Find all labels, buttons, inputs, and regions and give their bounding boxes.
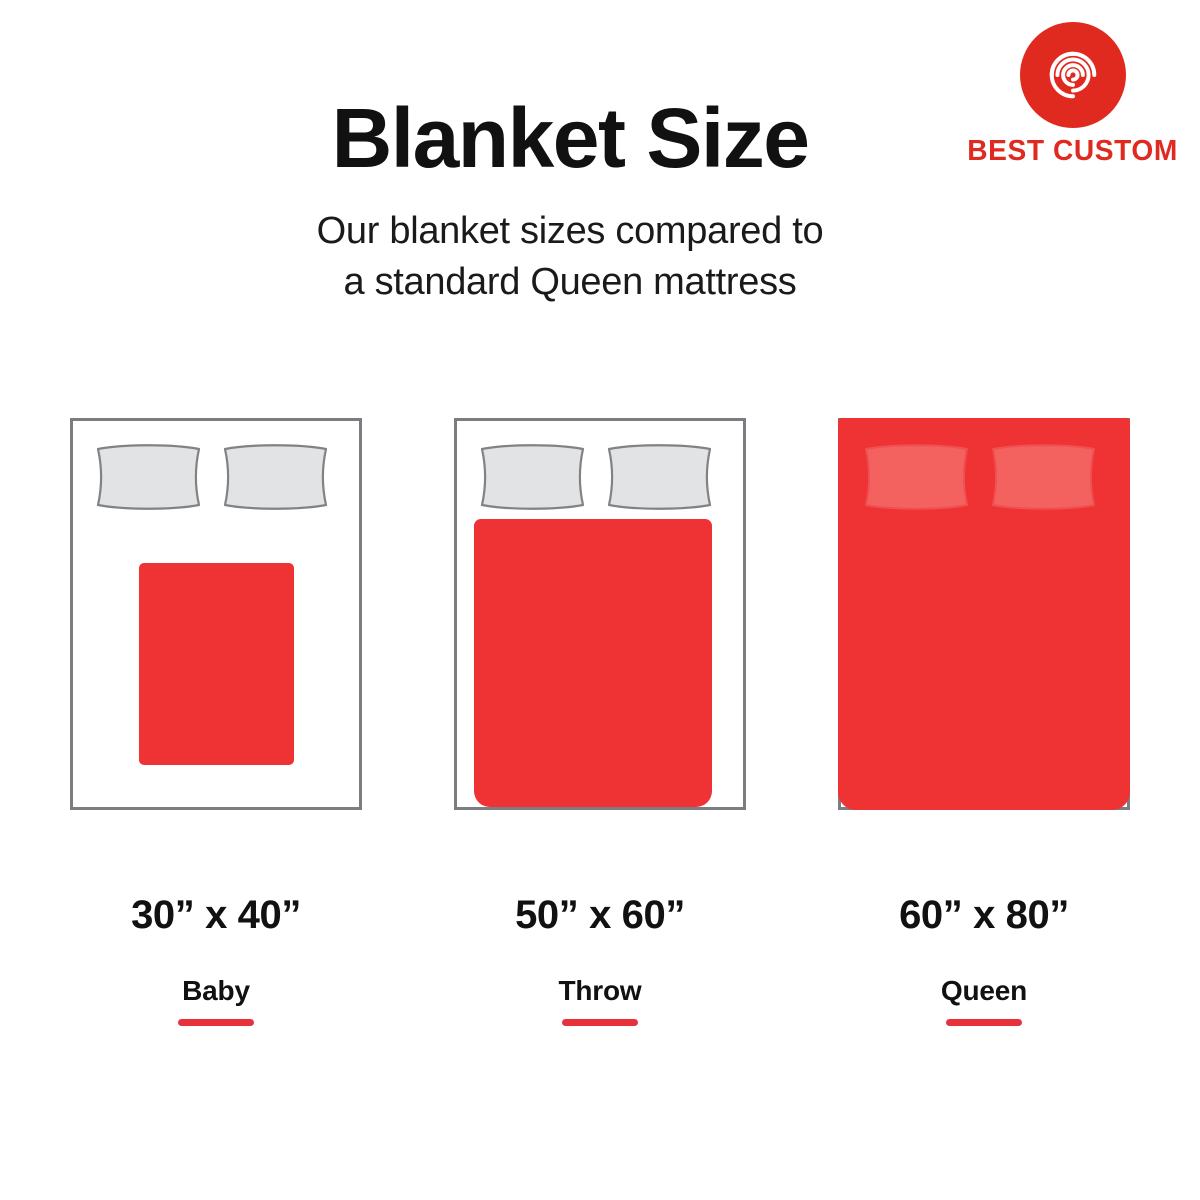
bed-column-throw bbox=[454, 418, 746, 810]
bed-labels-row: 30” x 40” Baby 50” x 60” Throw 60” x 80”… bbox=[0, 895, 1200, 1026]
dimension-label: 30” x 40” bbox=[131, 895, 301, 935]
pillow-icon bbox=[478, 443, 587, 511]
heading-block: Blanket Size Our blanket sizes compared … bbox=[0, 96, 1200, 308]
blanket-shape-queen bbox=[838, 418, 1130, 810]
subtitle-line-1: Our blanket sizes compared to bbox=[0, 206, 1140, 257]
label-column-baby: 30” x 40” Baby bbox=[70, 895, 362, 1026]
page-subtitle: Our blanket sizes compared to a standard… bbox=[0, 206, 1140, 308]
subtitle-line-2: a standard Queen mattress bbox=[0, 257, 1140, 308]
dimension-label: 50” x 60” bbox=[515, 895, 685, 935]
size-name-label: Throw bbox=[559, 977, 642, 1005]
bed-frame bbox=[838, 418, 1130, 810]
size-name-label: Baby bbox=[182, 977, 250, 1005]
label-column-queen: 60” x 80” Queen bbox=[838, 895, 1130, 1026]
dimension-label: 60” x 80” bbox=[899, 895, 1069, 935]
pillow-under-blanket-icon bbox=[862, 443, 971, 511]
label-column-throw: 50” x 60” Throw bbox=[454, 895, 746, 1026]
accent-underline bbox=[178, 1019, 254, 1026]
pillow-under-blanket-icon bbox=[989, 443, 1098, 511]
page-title: Blanket Size bbox=[0, 96, 1140, 180]
accent-underline bbox=[946, 1019, 1022, 1026]
bed-comparison-row bbox=[0, 418, 1200, 810]
blanket-shape-baby bbox=[139, 563, 294, 765]
size-name-label: Queen bbox=[941, 977, 1027, 1005]
pillow-icon bbox=[221, 443, 330, 511]
bed-column-queen bbox=[838, 418, 1130, 810]
bed-frame bbox=[70, 418, 362, 810]
blanket-shape-throw bbox=[474, 519, 712, 807]
pillow-icon bbox=[94, 443, 203, 511]
bed-frame bbox=[454, 418, 746, 810]
pillow-icon bbox=[605, 443, 714, 511]
accent-underline bbox=[562, 1019, 638, 1026]
bed-column-baby bbox=[70, 418, 362, 810]
